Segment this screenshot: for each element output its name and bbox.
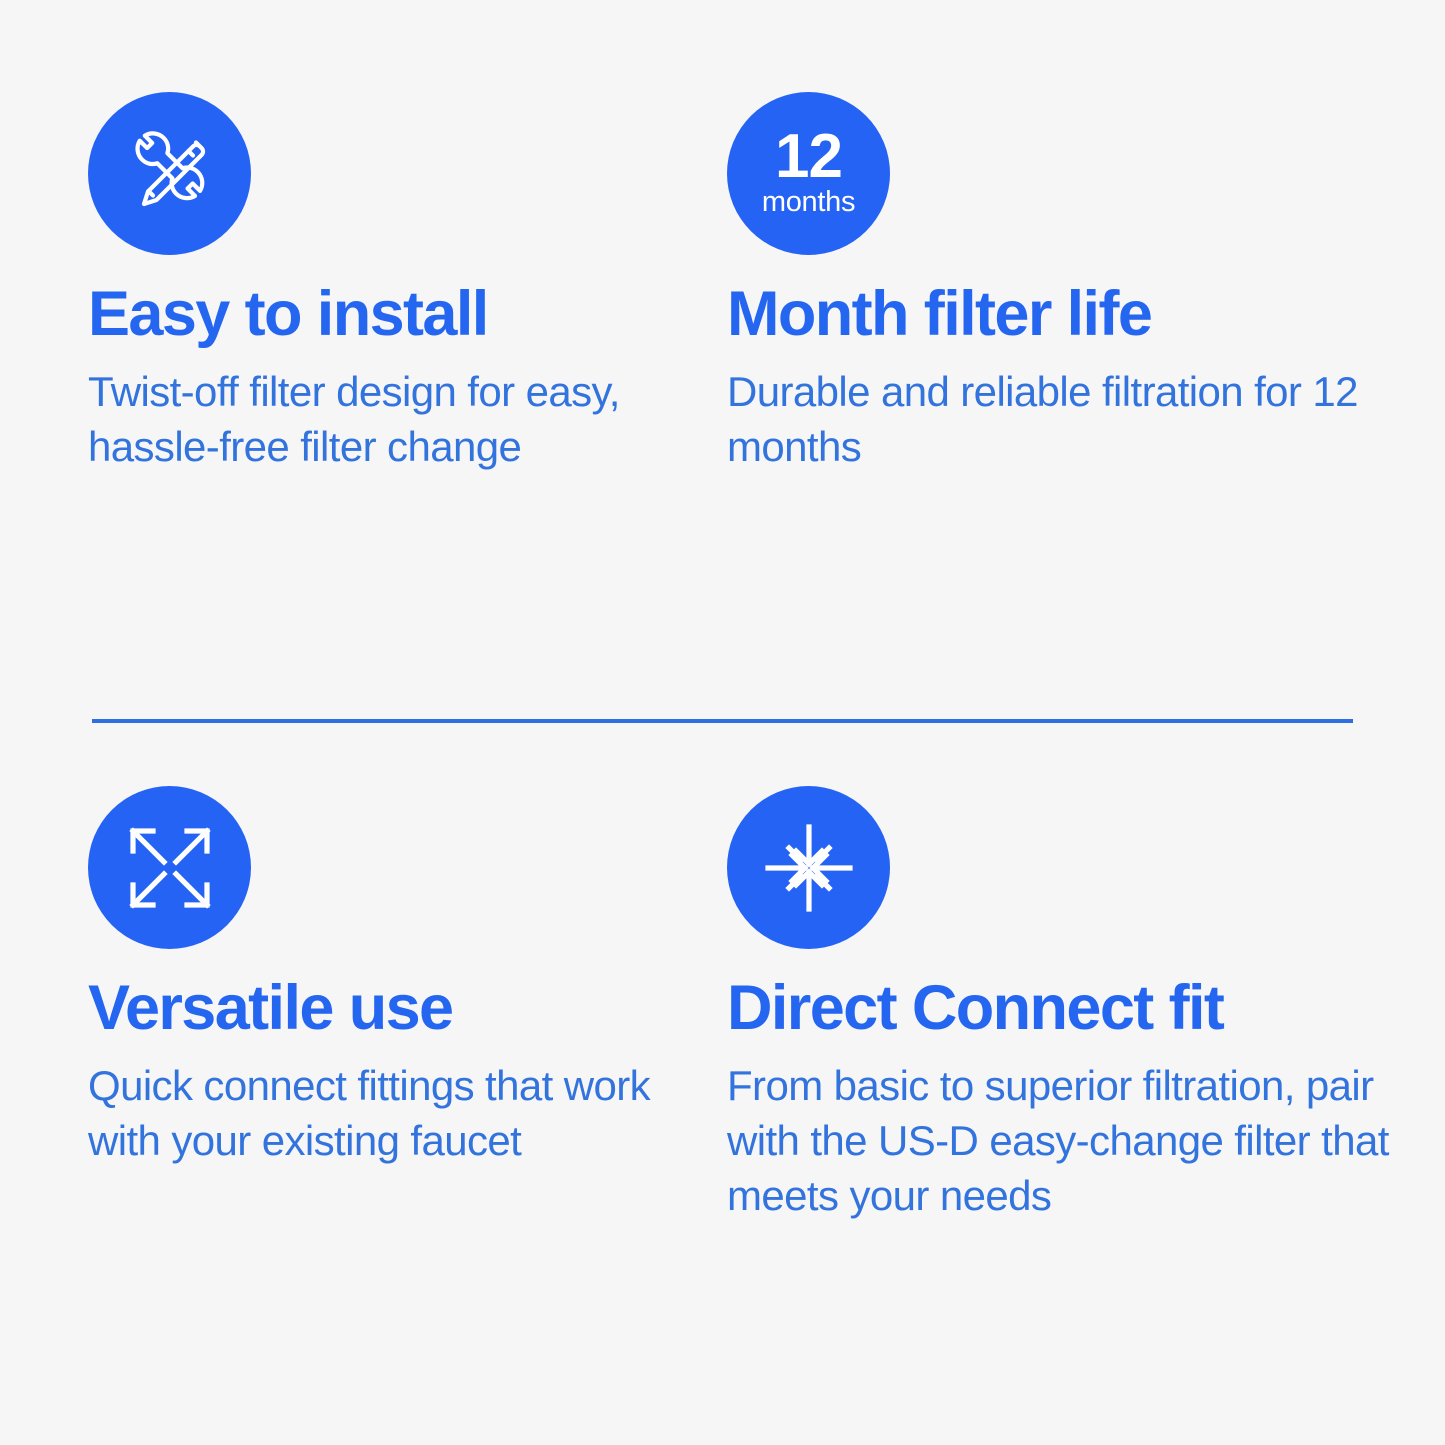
- feature-description: Durable and reliable filtration for 12 m…: [727, 364, 1387, 475]
- badge-number: 12: [775, 128, 842, 187]
- feature-description: Twist-off filter design for easy, hassle…: [88, 364, 708, 475]
- feature-card-easy-to-install: Easy to install Twist-off filter design …: [88, 92, 708, 474]
- expand-arrows-icon: [88, 786, 251, 949]
- badge-text-group: 12 months: [762, 128, 855, 218]
- feature-card-versatile-use: Versatile use Quick connect fittings tha…: [88, 786, 708, 1168]
- feature-title: Easy to install: [88, 279, 708, 350]
- expand-arrows-icon-glyph: [124, 822, 216, 914]
- feature-card-direct-connect-fit: Direct Connect fit From basic to superio…: [727, 786, 1397, 1224]
- feature-title: Versatile use: [88, 973, 708, 1044]
- converge-arrows-icon: [727, 786, 890, 949]
- feature-card-month-filter-life: 12 months Month filter life Durable and …: [727, 92, 1387, 474]
- feature-description: From basic to superior filtration, pair …: [727, 1058, 1397, 1224]
- feature-grid: Easy to install Twist-off filter design …: [0, 0, 1445, 1445]
- feature-title: Direct Connect fit: [727, 973, 1397, 1044]
- feature-grid-page: Easy to install Twist-off filter design …: [0, 0, 1445, 1445]
- converge-arrows-icon-glyph: [763, 822, 855, 914]
- section-divider: [92, 719, 1353, 723]
- feature-title: Month filter life: [727, 279, 1387, 350]
- tools-icon-glyph: [122, 126, 218, 222]
- twelve-months-badge-icon: 12 months: [727, 92, 890, 255]
- badge-unit: months: [762, 188, 855, 217]
- tools-icon: [88, 92, 251, 255]
- feature-description: Quick connect fittings that work with yo…: [88, 1058, 708, 1169]
